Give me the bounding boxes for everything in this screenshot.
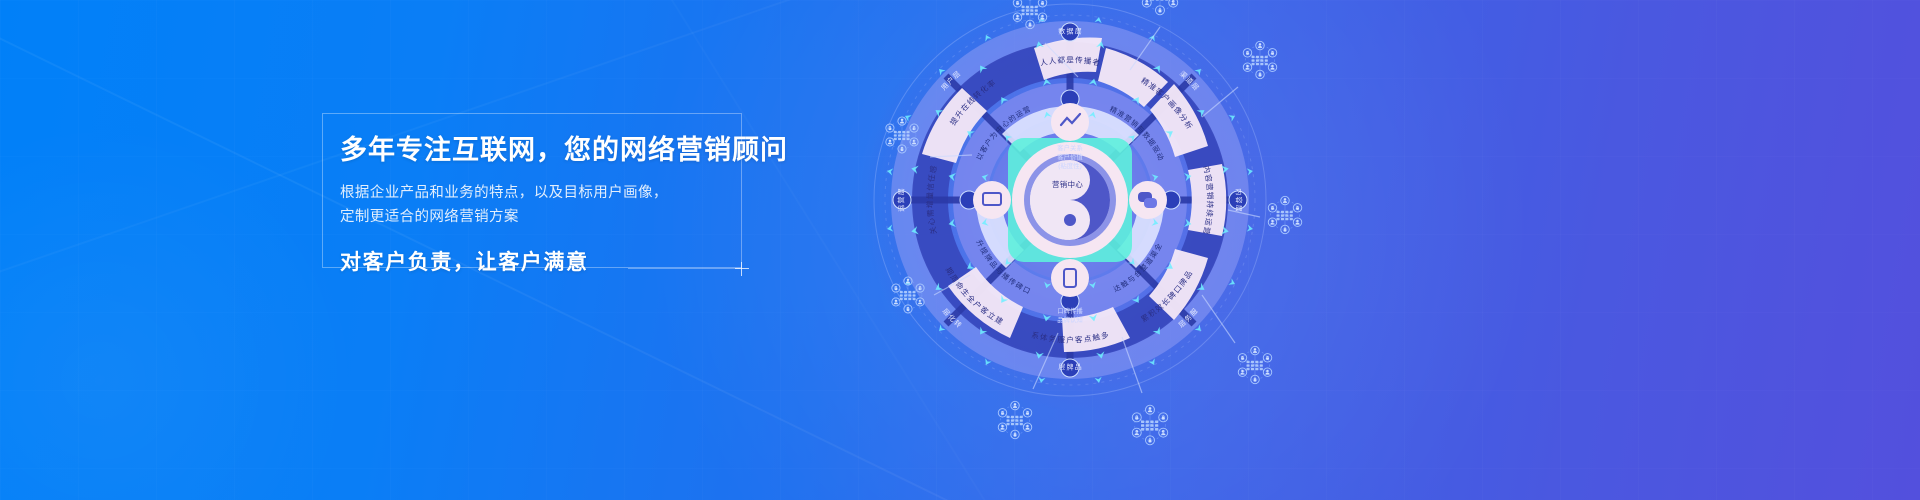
lock-icon — [1023, 409, 1032, 418]
hub-note-line: 口碑传播 — [1057, 306, 1083, 315]
satellite-cluster — [998, 401, 1032, 438]
arc-glyph: 点 — [1083, 334, 1092, 344]
hub-center-label: 营销中心 — [1052, 180, 1083, 189]
arc-glyph: 增 — [924, 200, 934, 208]
arc-glyph: 户 — [1066, 335, 1074, 345]
user-icon — [1238, 368, 1247, 377]
lock-icon — [1293, 204, 1302, 213]
arc-glyph: 销 — [1205, 192, 1215, 200]
hub-note-line: 品牌认知 — [1057, 315, 1083, 324]
lock-icon — [1238, 354, 1247, 363]
arc-glyph: 持 — [1205, 200, 1215, 208]
user-icon — [1293, 218, 1302, 227]
arc-glyph: 需 — [926, 209, 936, 218]
arc-glyph: 客 — [1075, 334, 1084, 344]
arc-glyph: 层 — [1058, 363, 1065, 371]
lock-icon — [1243, 49, 1252, 58]
marketing-wheel-graphic: 营销中心 建立客户全生命周期关心需增量信任感提 — [830, 0, 1310, 500]
hub-note-line: (粘度性) — [1058, 161, 1081, 170]
hero-banner: 多年专注互联网，您的网络营销顾问 根据企业产品和业务的特点，以及目标用户画像， … — [0, 0, 1920, 500]
arc-glyph: 层 — [1075, 28, 1082, 36]
arc-glyph: 营 — [897, 197, 906, 204]
user-icon — [998, 423, 1007, 432]
satellite-cluster — [1132, 405, 1168, 445]
arc-glyph: 传 — [1075, 55, 1084, 65]
hub-note-line: 客户价值 — [1057, 152, 1083, 161]
satellite-cluster — [1243, 41, 1277, 78]
hub-note-line: 客户关系 — [1057, 143, 1083, 152]
lock-icon — [998, 409, 1007, 418]
arc-glyph: 层 — [1234, 205, 1242, 212]
arc-glyph: 内 — [1234, 188, 1243, 195]
server-grid-icon — [1151, 0, 1168, 1]
lock-icon — [1263, 354, 1272, 363]
user-icon — [1159, 428, 1168, 437]
arc-glyph: 是 — [1066, 56, 1074, 65]
arc-glyph: 人 — [1048, 56, 1057, 66]
yinyang-icon — [1030, 160, 1110, 240]
user-icon — [1243, 63, 1252, 72]
arc-glyph: 牌 — [1067, 363, 1074, 372]
lock-icon — [1268, 49, 1277, 58]
user-icon — [1132, 428, 1141, 437]
satellite-cluster — [1238, 346, 1272, 383]
arc-glyph: 数 — [1058, 27, 1065, 36]
subtitle-line-2: 定制更适合的网络营销方案 — [340, 206, 760, 229]
tagline: 对客户负责，让客户满意 — [340, 246, 760, 276]
wheel-svg: 营销中心 建立客户全生命周期关心需增量信任感提 — [830, 0, 1310, 500]
arc-glyph: 层 — [898, 188, 906, 195]
arc-glyph: 据 — [1067, 27, 1074, 36]
copy-content: 多年专注互联网，您的网络营销顾问 根据企业产品和业务的特点，以及目标用户画像， … — [340, 135, 760, 276]
monitor-icon-bg — [973, 181, 1011, 219]
arc-glyph: 营 — [1205, 183, 1216, 192]
arc-glyph: 容 — [1235, 197, 1244, 204]
subtitle-line-1: 根据企业产品和业务的特点，以及目标用户画像， — [340, 182, 760, 205]
page-title: 多年专注互联网，您的网络营销顾问 — [340, 135, 760, 166]
user-icon — [1263, 368, 1272, 377]
arc-glyph: 续 — [1205, 209, 1216, 218]
user-icon — [1023, 423, 1032, 432]
lock-icon — [1159, 413, 1168, 422]
glow-left — [0, 120, 360, 500]
arc-glyph: 信 — [925, 182, 936, 191]
arc-glyph: 量 — [925, 191, 934, 199]
subtitle-block: 根据企业产品和业务的特点，以及目标用户画像， 定制更适合的网络营销方案 — [340, 182, 760, 229]
mobile-icon-bg — [1051, 259, 1089, 297]
arc-glyph: 品 — [1074, 363, 1081, 371]
user-icon — [1268, 63, 1277, 72]
arc-glyph: 服 — [1057, 335, 1066, 344]
arc-glyph: 运 — [898, 205, 906, 212]
